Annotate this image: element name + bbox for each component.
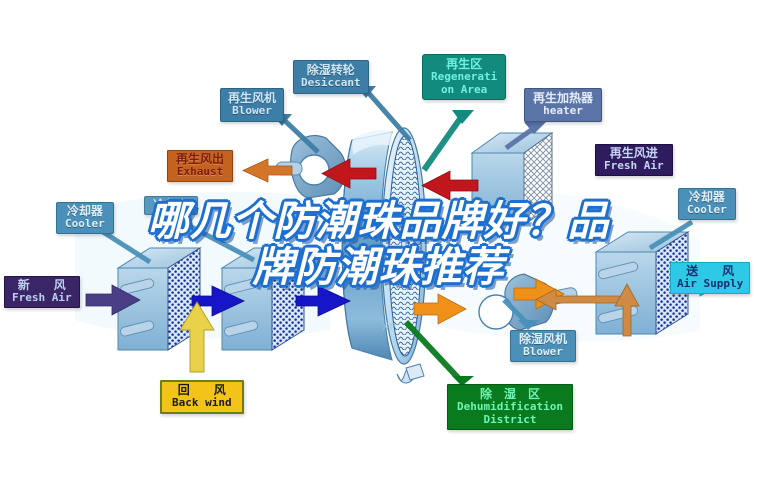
- label-air-supply-en: Air Supply: [677, 278, 743, 290]
- regeneration-heater-unit: [472, 133, 552, 225]
- label-dehum-blower: 除湿风机 Blower: [510, 330, 576, 362]
- label-regen-blower-en: Blower: [228, 105, 276, 117]
- label-regen-heater-en: heater: [533, 105, 593, 117]
- dehumidifier-diagram-artwork: xr: [0, 0, 757, 488]
- label-fresh-air-left: 新 风 Fresh Air: [4, 276, 80, 308]
- label-regen-heater: 再生加热器 heater: [524, 88, 602, 122]
- label-cooler-mid-cn: 冷却器: [153, 199, 189, 212]
- label-back-wind-cn: 回 风: [172, 384, 232, 397]
- label-regeneration-area: 再生区 Regenerati on Area: [422, 54, 506, 100]
- label-fresh-air-left-cn: 新 风: [12, 279, 72, 292]
- label-regeneration-area-en-line2: on Area: [431, 84, 497, 96]
- label-back-wind: 回 风 Back wind: [160, 380, 244, 414]
- label-cooler-mid: 冷却器: [144, 196, 198, 215]
- label-back-wind-en: Back wind: [172, 397, 232, 409]
- label-regeneration-area-cn: 再生区: [431, 58, 497, 71]
- label-air-supply: 送 风 Air Supply: [670, 262, 750, 294]
- label-fresh-air-left-en: Fresh Air: [12, 292, 72, 304]
- label-regen-blower: 再生风机 Blower: [220, 88, 284, 122]
- label-dehum-blower-cn: 除湿风机: [519, 333, 567, 346]
- label-regen-blower-cn: 再生风机: [228, 92, 276, 105]
- label-exhaust: 再生风出 Exhaust: [167, 150, 233, 182]
- label-desiccant-cn: 除湿转轮: [301, 64, 361, 77]
- label-dehumidification-district-cn: 除 湿 区: [457, 388, 563, 401]
- label-cooler-right: 冷却器 Cooler: [678, 188, 736, 220]
- label-desiccant-en: Desiccant: [301, 77, 361, 89]
- label-dehumidification-district: 除 湿 区 Dehumidification District: [447, 384, 573, 430]
- label-cooler-right-cn: 冷却器: [687, 191, 727, 204]
- desiccant-rotor-wheel: xr: [342, 128, 426, 383]
- label-regen-heater-cn: 再生加热器: [533, 92, 593, 105]
- label-dehum-blower-en: Blower: [519, 346, 567, 358]
- label-dehumidification-district-en-line2: District: [457, 414, 563, 426]
- label-desiccant: 除湿转轮 Desiccant: [293, 60, 369, 94]
- label-cooler-left: 冷却器 Cooler: [56, 202, 114, 234]
- label-exhaust-cn: 再生风出: [176, 153, 224, 166]
- label-fresh-air-right-en: Fresh Air: [604, 160, 664, 172]
- schematic-canvas: xr: [0, 0, 757, 488]
- label-fresh-air-right-cn: 再生风进: [604, 147, 664, 160]
- label-cooler-left-cn: 冷却器: [65, 205, 105, 218]
- label-exhaust-en: Exhaust: [176, 166, 224, 178]
- svg-text:xr: xr: [382, 319, 394, 333]
- label-cooler-left-en: Cooler: [65, 218, 105, 230]
- label-air-supply-cn: 送 风: [677, 265, 743, 278]
- label-dehumidification-district-en-line1: Dehumidification: [457, 401, 563, 413]
- label-fresh-air-right: 再生风进 Fresh Air: [595, 144, 673, 176]
- label-cooler-right-en: Cooler: [687, 204, 727, 216]
- label-regeneration-area-en-line1: Regenerati: [431, 71, 497, 83]
